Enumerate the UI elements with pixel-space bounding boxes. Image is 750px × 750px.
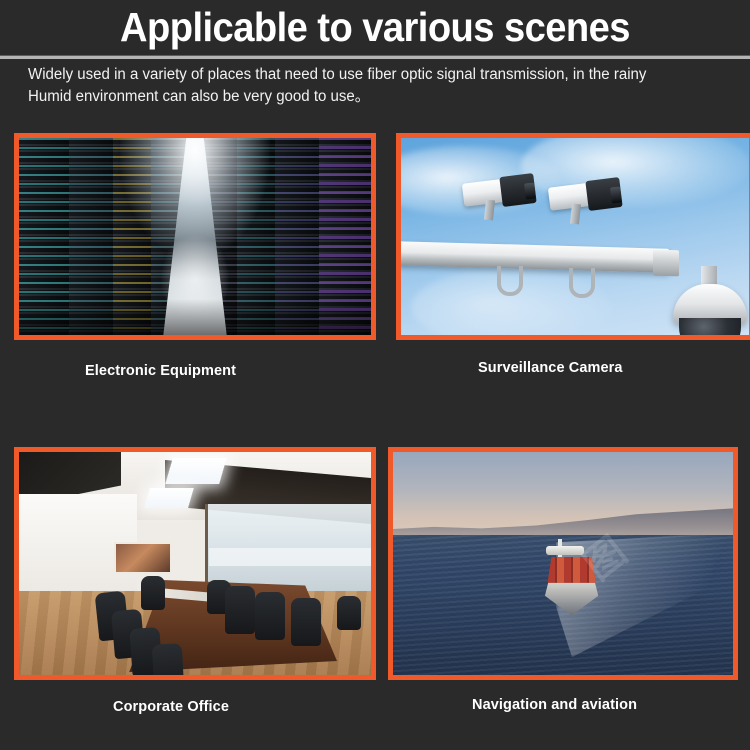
description-text: Widely used in a variety of places that … — [28, 64, 750, 108]
title-divider — [0, 56, 750, 59]
scene-caption-navigation-aviation: Navigation and aviation — [472, 697, 637, 713]
scene-panel-surveillance-camera — [396, 133, 750, 340]
server-room-image — [19, 138, 371, 335]
description-line-1: Widely used in a variety of places that … — [28, 64, 750, 86]
scene-caption-electronic-equipment: Electronic Equipment — [85, 363, 236, 379]
cargo-ship-image: 图 — [393, 452, 733, 675]
scene-panel-electronic-equipment — [14, 133, 376, 340]
cctv-camera-image — [401, 138, 749, 335]
scene-caption-surveillance-camera: Surveillance Camera — [478, 360, 623, 376]
scene-caption-corporate-office: Corporate Office — [113, 699, 229, 715]
scene-panel-corporate-office — [14, 447, 376, 680]
scene-panel-navigation-aviation: 图 — [388, 447, 738, 680]
conference-room-image — [19, 452, 371, 675]
page-title: Applicable to various scenes — [26, 2, 724, 52]
scenes-infographic: Applicable to various scenes Widely used… — [0, 0, 750, 750]
description-line-2: Humid environment can also be very good … — [28, 86, 750, 108]
